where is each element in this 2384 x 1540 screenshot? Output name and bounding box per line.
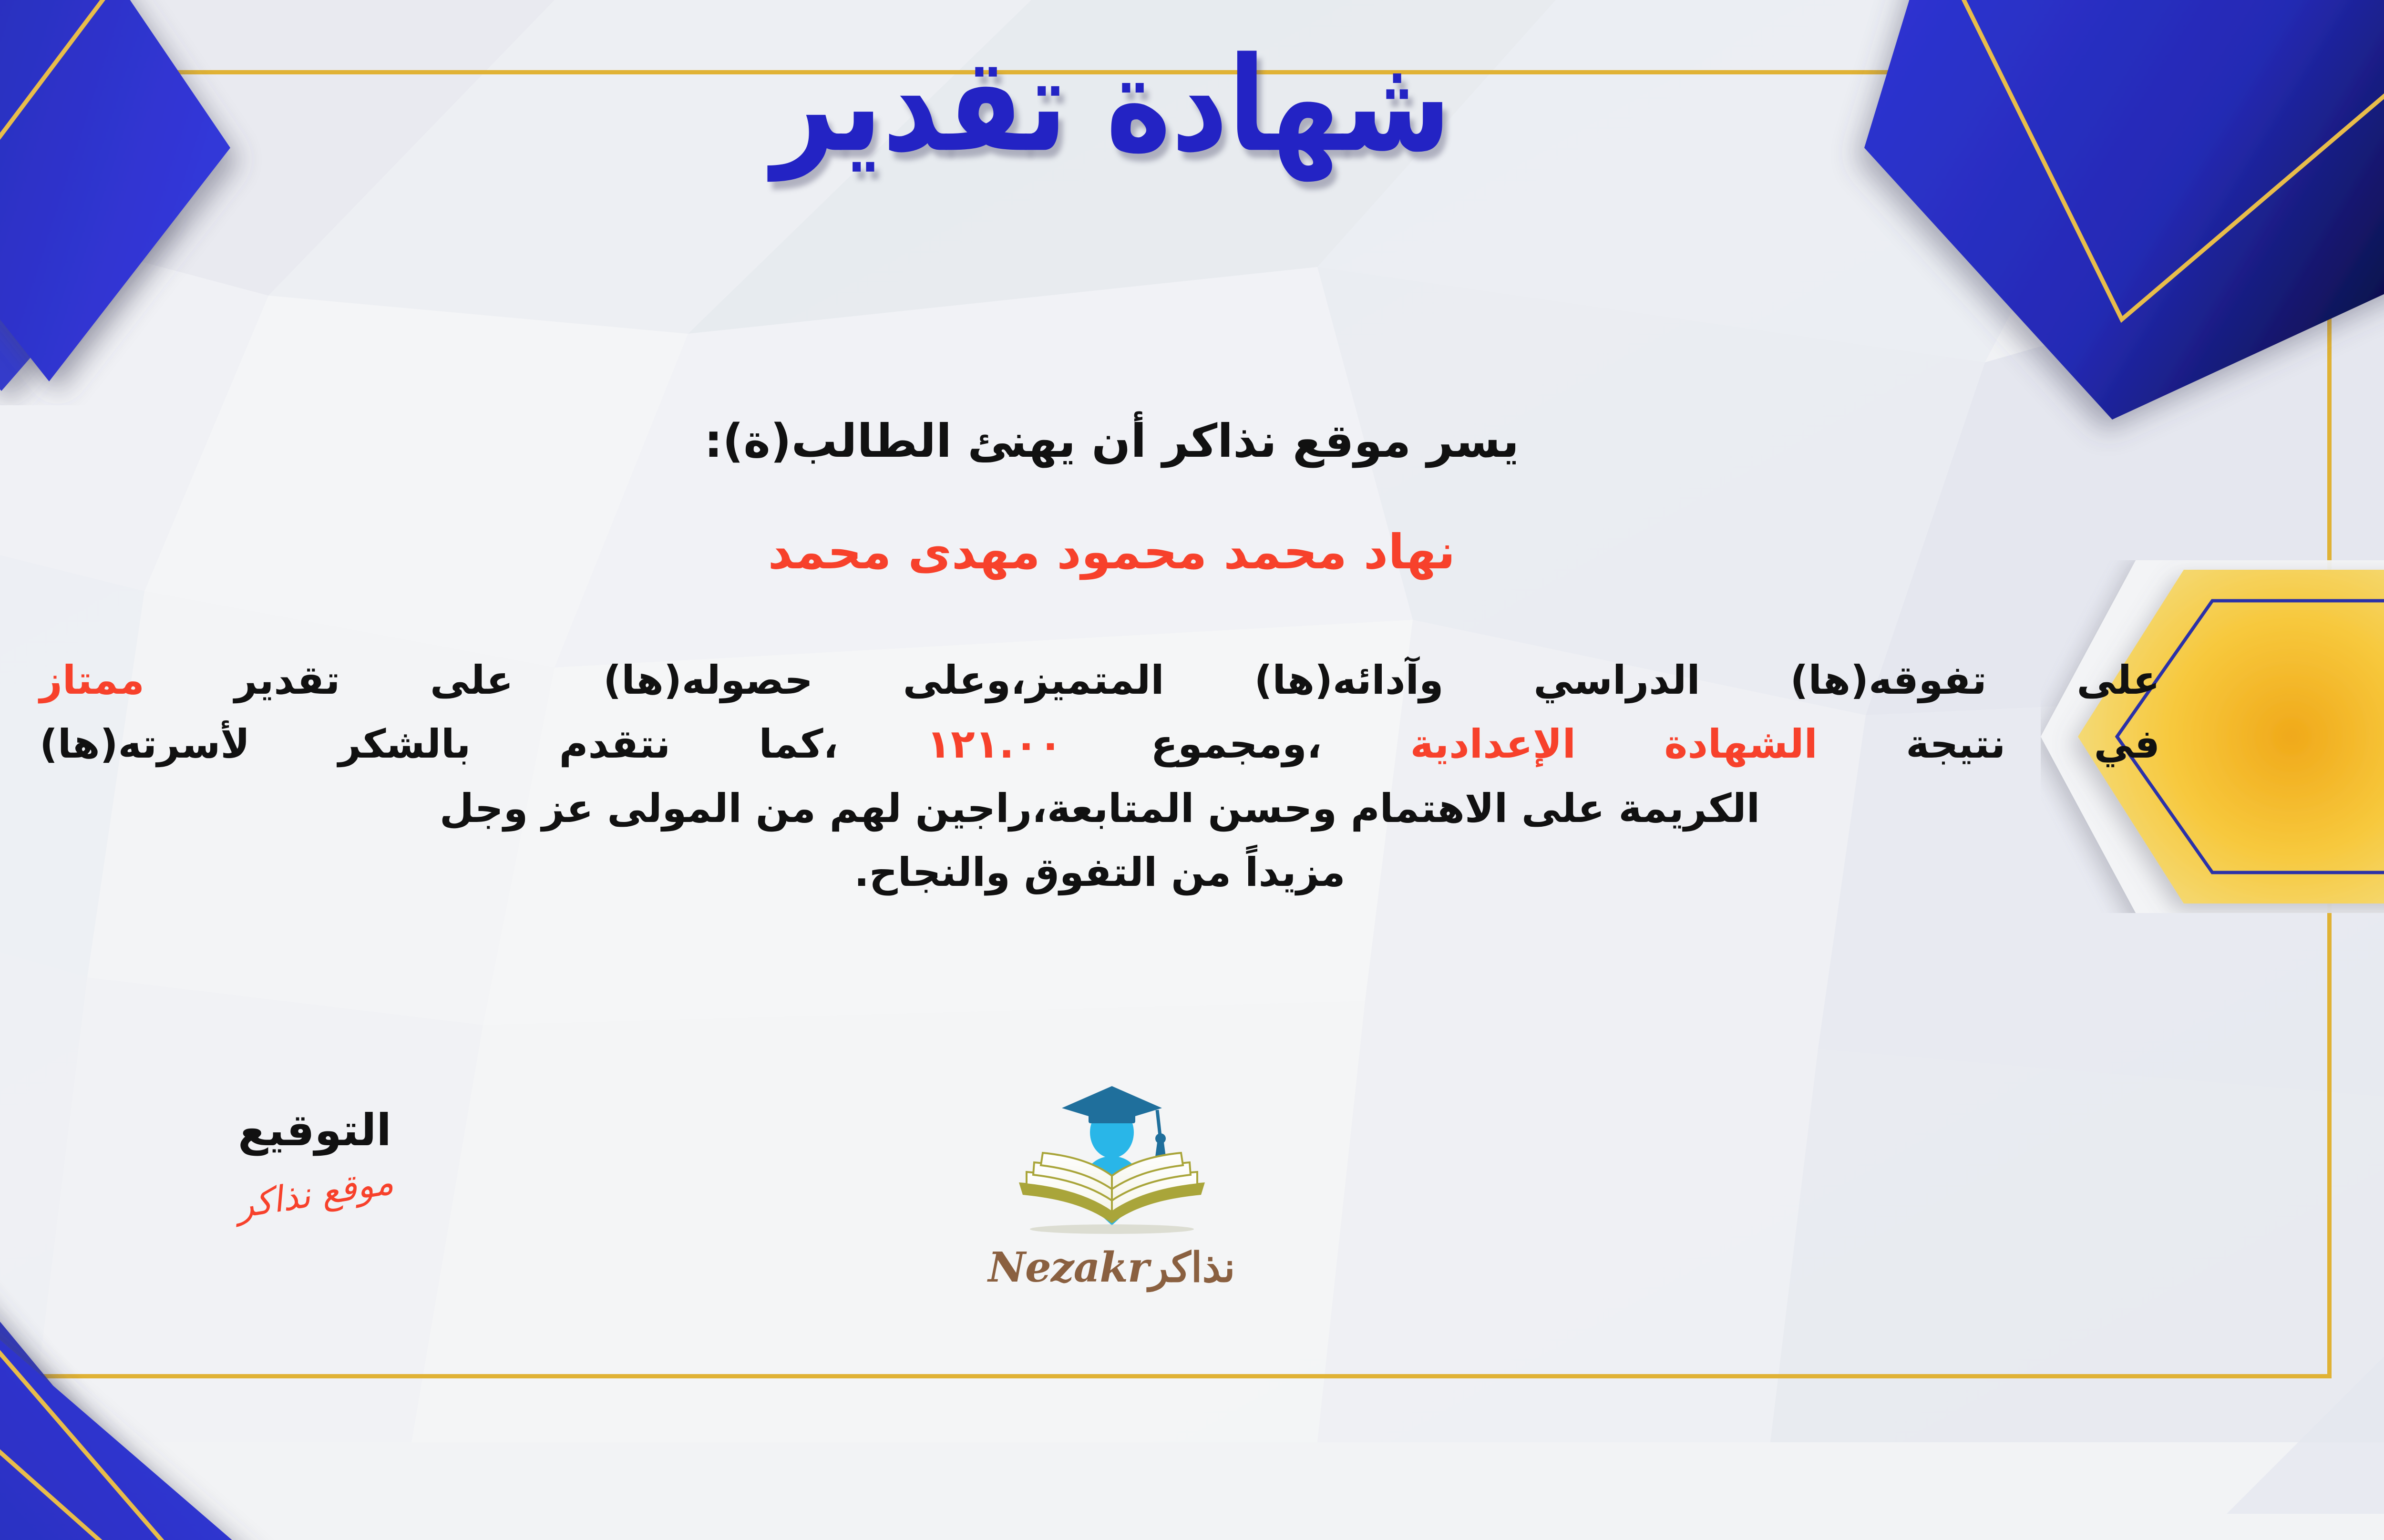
certificate-name: الشهادة الإعدادية [1410, 721, 1818, 767]
grade-value: ممتاز [40, 657, 144, 703]
graduate-on-book-logo-icon [1000, 1082, 1224, 1254]
body-line-2-suffix: ،كما نتقدم بالشكر لأسرته(ها) [40, 721, 838, 767]
logo-wordmark: نذاكرNezakr [988, 1243, 1235, 1292]
body-line-2-middle: ،ومجموع [1151, 721, 1322, 767]
body-line-1-text: على تفوقه(ها) الدراسي وآدائه(ها) المتميز… [235, 657, 2160, 703]
certificate-title: شهادة تقدير [772, 40, 1451, 170]
total-score: ١٢١.٠٠ [926, 721, 1062, 767]
body-line-1: على تفوقه(ها) الدراسي وآدائه(ها) المتميز… [40, 648, 2160, 712]
certificate-body: على تفوقه(ها) الدراسي وآدائه(ها) المتميز… [40, 648, 2160, 905]
body-line-2: في نتيجة الشهادة الإعدادية ،ومجموع ١٢١.٠… [40, 712, 2160, 776]
body-line-3: الكريمة على الاهتمام وحسن المتابعة،راجين… [40, 777, 2160, 841]
site-logo: نذاكرNezakr [0, 1082, 2384, 1292]
certificate-title-wrap: شهادة تقدير [0, 36, 2384, 174]
body-line-4: مزيداً من التفوق والنجاح. [40, 841, 2160, 904]
student-name: نهاد محمد محمود مهدى محمد [0, 522, 2384, 582]
intro-line: يسر موقع نذاكر أن يهنئ الطالب(ة): [0, 412, 2384, 470]
logo-latin: Nezakr [988, 1243, 1149, 1292]
body-line-2-prefix: في نتيجة [1906, 721, 2160, 767]
logo-arabic: نذاكر [1149, 1243, 1235, 1292]
